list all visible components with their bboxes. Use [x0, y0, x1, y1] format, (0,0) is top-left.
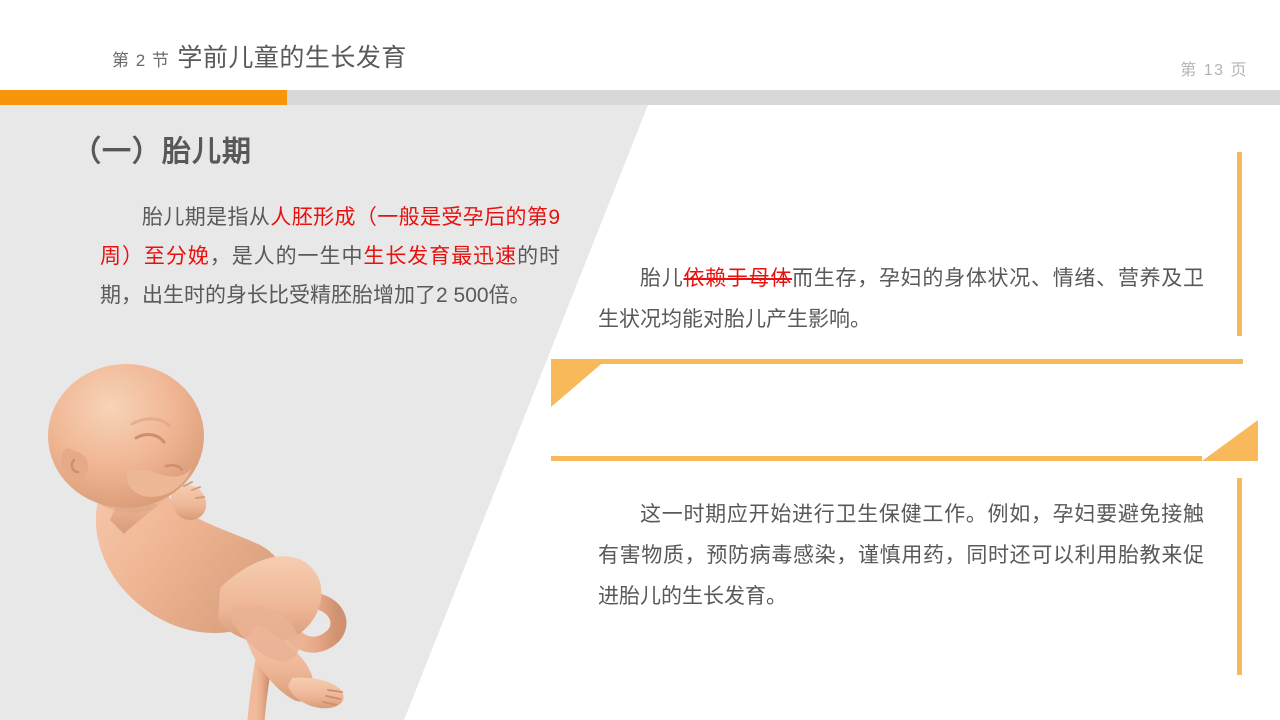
accent-triangle-left: [551, 359, 607, 407]
left-highlight-2: 生长发育最迅速: [363, 245, 517, 268]
divider-line-lower: [551, 456, 1202, 461]
accent-bar-bottom-right: [1237, 478, 1242, 675]
page-title: 第 2 节 学前儿童的生长发育: [112, 38, 407, 74]
left-paragraph: 胎儿期是指从人胚形成（一般是受孕后的第9周）至分娩，是人的一生中生长发育最迅速的…: [100, 198, 560, 315]
divider-line-upper: [592, 359, 1243, 364]
right-paragraph-2: 这一时期应开始进行卫生保健工作。例如，孕妇要避免接触有害物质，预防病毒感染，谨慎…: [598, 494, 1204, 617]
right1-strike-text: 依赖于母体: [683, 267, 792, 290]
accent-triangle-right: [1202, 420, 1258, 461]
slide: 第 2 节 学前儿童的生长发育 第 13 页 （一）胎儿期 胎儿期是指从人胚形成…: [0, 0, 1280, 720]
right-paragraph-1: 胎儿依赖于母体而生存，孕妇的身体状况、情绪、营养及卫生状况均能对胎儿产生影响。: [598, 258, 1204, 340]
fetus-illustration: [6, 338, 386, 720]
left-text-1: 胎儿期是指从: [142, 206, 270, 229]
page-number: 第 13 页: [1180, 56, 1248, 80]
accent-bar-top-right: [1237, 152, 1242, 336]
section-title: 学前儿童的生长发育: [177, 44, 407, 72]
section-heading: （一）胎儿期: [72, 128, 252, 170]
section-number: 第 2 节: [112, 51, 170, 70]
right1-text-1: 胎儿: [640, 267, 683, 290]
header-divider-orange: [0, 90, 287, 105]
left-text-2: ，是人的一生中: [210, 245, 364, 268]
